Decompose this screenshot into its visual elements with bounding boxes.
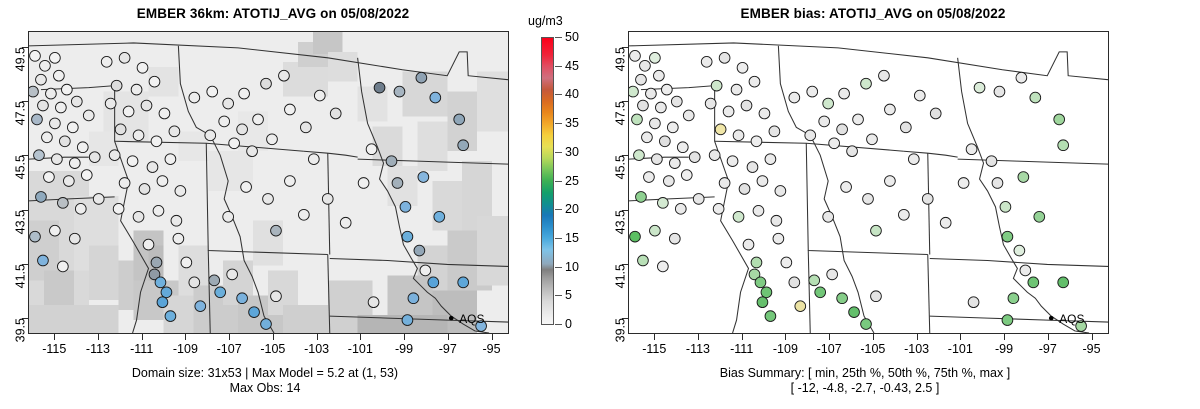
x-axis-tick [1048, 334, 1049, 340]
colorbar-tick [555, 209, 562, 210]
y-axis-tick-label: 45.5 [13, 155, 27, 179]
x-axis-tick-label: -115 [42, 342, 66, 356]
panel-title-model: EMBER 36km: ATOTIJ_AVG on 05/08/2022 [0, 6, 600, 21]
colorbar-tick-label: 20 [565, 202, 579, 216]
y-axis-tick-label: 47.5 [13, 101, 27, 125]
x-axis-tick [317, 334, 318, 340]
caption-model: Domain size: 31x53 | Max Model = 5.2 at … [10, 366, 520, 396]
caption-bias: Bias Summary: [ min, 25th %, 50th %, 75t… [610, 366, 1120, 396]
colorbar-tick [555, 37, 562, 38]
colorbar-tick [555, 238, 562, 239]
x-axis-tick [742, 334, 743, 340]
x-axis-tick [785, 334, 786, 340]
caption-line-1: Bias Summary: [ min, 25th %, 50th %, 75t… [610, 366, 1120, 381]
x-axis-tick [917, 334, 918, 340]
x-axis-tick-label: -97 [1039, 342, 1057, 356]
colorbar-tick-label: 5 [565, 288, 572, 302]
y-axis-tick-label: 49.5 [613, 47, 627, 71]
x-axis-tick-label: -95 [1082, 342, 1100, 356]
map-canvas-model: AQS [29, 32, 508, 333]
x-axis-tick-label: -111 [730, 342, 753, 356]
colorbar-tick [555, 123, 562, 124]
colorbar-tick [555, 267, 562, 268]
x-axis-tick-label: -101 [348, 342, 373, 356]
panel-bias: EMBER bias: ATOTIJ_AVG on 05/08/2022 [600, 0, 1200, 409]
x-axis-tick [98, 334, 99, 340]
y-axis-model: 49.547.545.543.541.539.5 [0, 31, 28, 334]
x-axis-model: -115-113-111-109-107-105-103-101-99-97-9… [28, 334, 509, 364]
colorbar-tick [555, 324, 562, 325]
x-axis-tick-label: -95 [482, 342, 500, 356]
x-axis-tick [492, 334, 493, 340]
x-axis-tick-label: -97 [439, 342, 457, 356]
x-axis-tick [448, 334, 449, 340]
colorbar-tick-label: 10 [565, 260, 579, 274]
caption-line-1: Domain size: 31x53 | Max Model = 5.2 at … [10, 366, 520, 381]
colorbar-tick-label: 0 [565, 317, 572, 331]
colorbar-units-label: ug/m3 [528, 14, 563, 28]
colorbar-tick [555, 94, 562, 95]
figure-root: EMBER 36km: ATOTIJ_AVG on 05/08/2022 [0, 0, 1200, 409]
svg-text:AQS: AQS [459, 312, 484, 326]
x-axis-tick-label: -107 [817, 342, 842, 356]
colorbar-tick [555, 66, 562, 67]
x-axis-tick [1092, 334, 1093, 340]
x-axis-tick [142, 334, 143, 340]
colorbar-tick [555, 181, 562, 182]
panel-title-bias: EMBER bias: ATOTIJ_AVG on 05/08/2022 [600, 6, 1200, 21]
x-axis-tick [273, 334, 274, 340]
colorbar-tick-label: 40 [565, 87, 579, 101]
x-axis-tick [404, 334, 405, 340]
panel-model: EMBER 36km: ATOTIJ_AVG on 05/08/2022 [0, 0, 600, 409]
x-axis-tick-label: -99 [995, 342, 1013, 356]
colorbar-tick [555, 152, 562, 153]
x-axis-tick [229, 334, 230, 340]
y-axis-tick-label: 45.5 [613, 155, 627, 179]
colorbar-tick-label: 15 [565, 231, 579, 245]
y-axis-tick-label: 41.5 [13, 264, 27, 288]
x-axis-tick-label: -103 [304, 342, 329, 356]
x-axis-tick [54, 334, 55, 340]
colorbar-tick-label: 30 [565, 145, 579, 159]
x-axis-tick [698, 334, 699, 340]
y-axis-tick-label: 43.5 [613, 210, 627, 234]
y-axis-bias: 49.547.545.543.541.539.5 [600, 31, 628, 334]
colorbar-tick-label: 35 [565, 116, 579, 130]
caption-line-2: Max Obs: 14 [10, 381, 520, 396]
y-axis-tick-label: 39.5 [13, 318, 27, 342]
x-axis-tick-label: -111 [130, 342, 153, 356]
x-axis-tick-label: -107 [217, 342, 242, 356]
colorbar-tick-label: 45 [565, 59, 579, 73]
colorbar-tick-label: 25 [565, 174, 579, 188]
x-axis-tick [654, 334, 655, 340]
caption-line-2: [ -12, -4.8, -2.7, -0.43, 2.5 ] [610, 381, 1120, 396]
x-axis-tick [873, 334, 874, 340]
x-axis-tick-label: -105 [260, 342, 285, 356]
colorbar-model: ug/m3 50454035302520151050 [530, 31, 600, 341]
colorbar-gradient-model [541, 37, 554, 325]
x-axis-tick-label: -103 [904, 342, 929, 356]
map-canvas-bias: AQS [629, 32, 1108, 333]
x-axis-tick-label: -113 [686, 342, 710, 356]
y-axis-tick-label: 39.5 [613, 318, 627, 342]
y-axis-tick-label: 49.5 [13, 47, 27, 71]
map-frame-model: AQS [28, 31, 509, 334]
map-frame-bias: AQS [628, 31, 1109, 334]
x-axis-tick [1004, 334, 1005, 340]
svg-text:AQS: AQS [1059, 312, 1084, 326]
x-axis-tick-label: -109 [173, 342, 198, 356]
x-axis-tick [829, 334, 830, 340]
y-axis-tick-label: 47.5 [613, 101, 627, 125]
x-axis-bias: -115-113-111-109-107-105-103-101-99-97-9… [628, 334, 1109, 364]
x-axis-tick-label: -109 [773, 342, 798, 356]
x-axis-tick-label: -115 [642, 342, 666, 356]
x-axis-tick [360, 334, 361, 340]
y-axis-tick-label: 43.5 [13, 210, 27, 234]
colorbar-tick [555, 295, 562, 296]
x-axis-tick-label: -113 [86, 342, 110, 356]
x-axis-tick-label: -105 [860, 342, 885, 356]
x-axis-tick-label: -101 [948, 342, 973, 356]
x-axis-tick [185, 334, 186, 340]
y-axis-tick-label: 41.5 [613, 264, 627, 288]
x-axis-tick [960, 334, 961, 340]
colorbar-tick-label: 50 [565, 30, 579, 44]
x-axis-tick-label: -99 [395, 342, 413, 356]
